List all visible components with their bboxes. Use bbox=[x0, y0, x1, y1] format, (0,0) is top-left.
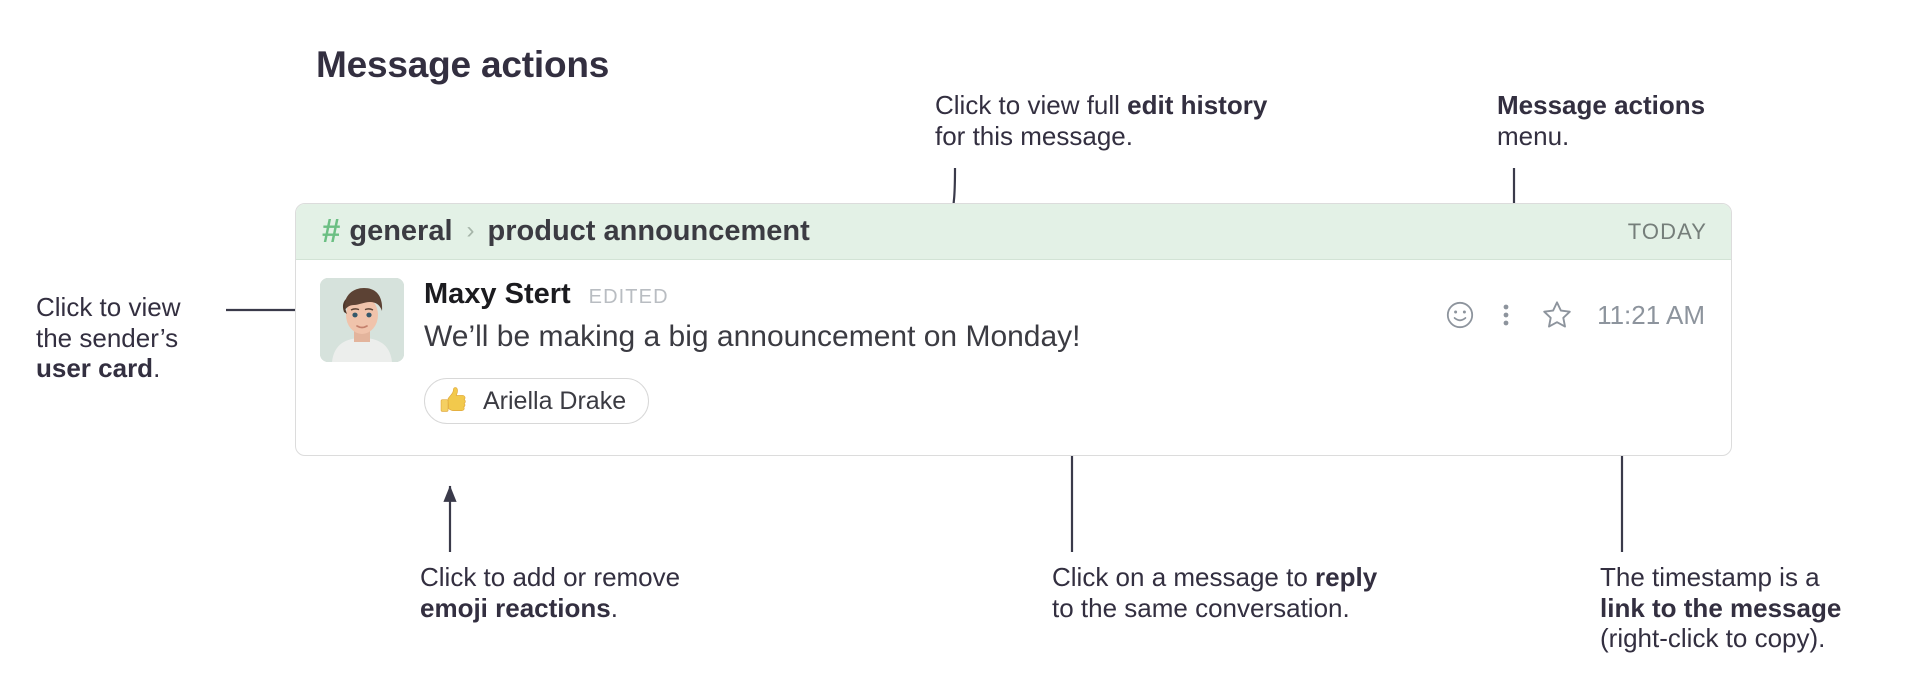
annotation-emoji-line2-post: . bbox=[611, 593, 618, 623]
annotation-timestamp-line3: (right-click to copy). bbox=[1600, 623, 1841, 654]
smiley-icon-glyph bbox=[1445, 300, 1475, 330]
annotation-emoji-line2: emoji reactions bbox=[420, 593, 611, 623]
annotation-timestamp-line2: link to the message bbox=[1600, 593, 1841, 623]
annotation-edit-history: Click to view full edit history for this… bbox=[935, 90, 1267, 151]
breadcrumb-topic[interactable]: product announcement bbox=[488, 215, 810, 248]
message-timestamp[interactable]: 11:21 AM bbox=[1597, 300, 1705, 331]
star-outline-icon-glyph bbox=[1541, 299, 1573, 331]
annotation-reply-line2: to the same conversation. bbox=[1052, 593, 1377, 624]
avatar[interactable] bbox=[320, 278, 404, 362]
annotation-reply-line1-bold: reply bbox=[1315, 562, 1377, 592]
annotation-emoji-reactions: Click to add or remove emoji reactions. bbox=[420, 562, 680, 623]
annotation-timestamp-line1: The timestamp is a bbox=[1600, 562, 1841, 593]
breadcrumb-channel[interactable]: general bbox=[349, 215, 452, 248]
annotation-actions-menu-line1: Message actions bbox=[1497, 90, 1705, 120]
annotation-actions-menu-line2: menu. bbox=[1497, 121, 1705, 152]
reaction-pill[interactable]: Ariella Drake bbox=[424, 378, 649, 424]
edited-badge[interactable]: EDITED bbox=[589, 286, 669, 309]
annotation-emoji-line1: Click to add or remove bbox=[420, 562, 680, 593]
annotation-reply: Click on a message to reply to the same … bbox=[1052, 562, 1377, 623]
annotation-user-card-line2: the sender’s bbox=[36, 323, 180, 354]
hash-icon: # bbox=[322, 214, 340, 247]
annotation-actions-menu: Message actions menu. bbox=[1497, 90, 1705, 151]
annotation-edit-history-line1-bold: edit history bbox=[1127, 90, 1267, 120]
reaction-user-label: Ariella Drake bbox=[483, 387, 626, 416]
reactions-row: Ariella Drake bbox=[424, 378, 1707, 424]
annotation-user-card: Click to view the sender’s user card. bbox=[36, 292, 180, 384]
message-card: # general › product announcement TODAY bbox=[295, 203, 1732, 456]
user-avatar-photo bbox=[320, 278, 404, 362]
message-actions-diagram: Message actions Click to view full edit … bbox=[0, 0, 1924, 696]
message-actions-menu-icon[interactable] bbox=[1483, 295, 1529, 335]
thumbs-up-emoji bbox=[439, 384, 473, 418]
thumbs-up-emoji-glyph bbox=[439, 384, 473, 418]
page-title: Message actions bbox=[316, 44, 609, 86]
star-message-icon[interactable] bbox=[1529, 294, 1585, 336]
vertical-dots-icon-glyph bbox=[1501, 300, 1511, 330]
sender-name[interactable]: Maxy Stert bbox=[424, 278, 571, 311]
day-label: TODAY bbox=[1628, 219, 1707, 245]
annotation-reply-line1-pre: Click on a message to bbox=[1052, 562, 1315, 592]
message-card-header: # general › product announcement TODAY bbox=[296, 204, 1731, 260]
annotation-user-card-line1: Click to view bbox=[36, 292, 180, 323]
annotation-user-card-line3-post: . bbox=[153, 353, 160, 383]
annotation-edit-history-line1-pre: Click to view full bbox=[935, 90, 1127, 120]
message-card-body: Maxy Stert EDITED We’ll be making a big … bbox=[296, 260, 1731, 455]
add-reaction-icon[interactable] bbox=[1437, 295, 1483, 335]
annotation-edit-history-line2: for this message. bbox=[935, 121, 1267, 152]
chevron-right-icon: › bbox=[467, 217, 475, 245]
annotation-timestamp: The timestamp is a link to the message (… bbox=[1600, 562, 1841, 654]
annotation-user-card-line3: user card bbox=[36, 353, 153, 383]
message-actions-toolbar: 11:21 AM bbox=[1437, 294, 1705, 336]
